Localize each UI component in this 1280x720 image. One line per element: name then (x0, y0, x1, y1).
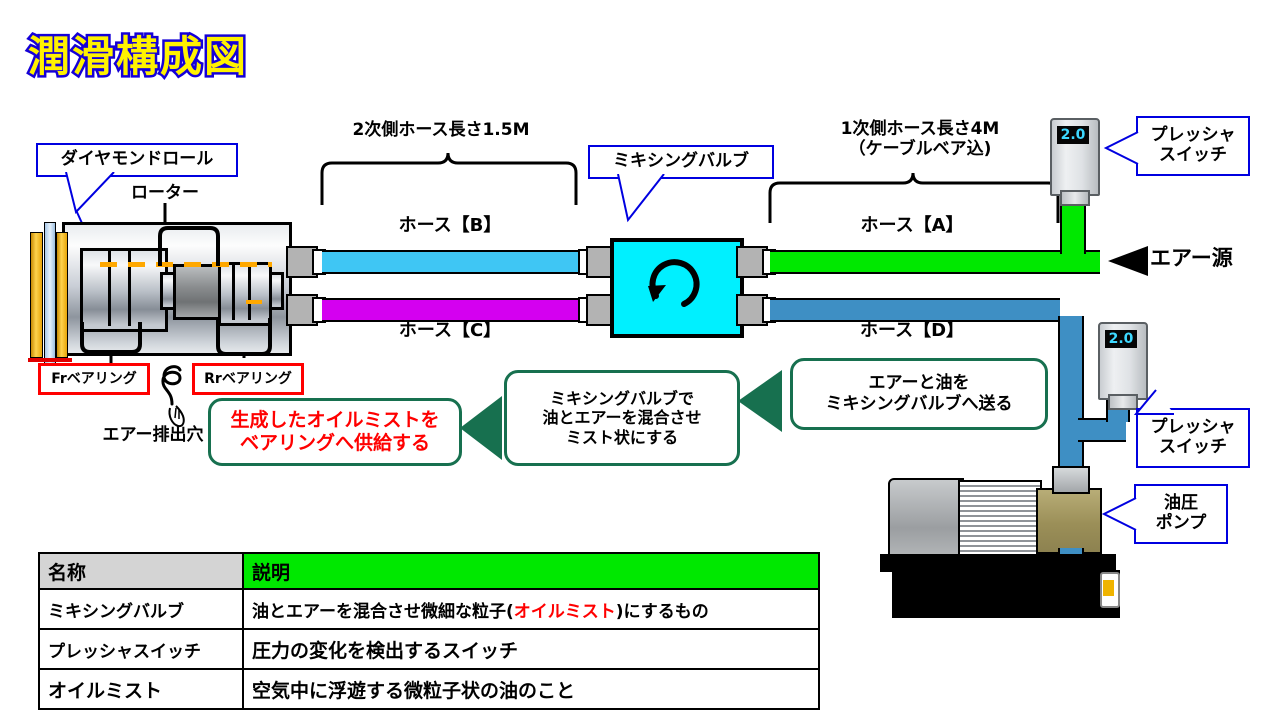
callout-supply-to-bearing-line2: ベアリングへ供給する (240, 432, 430, 455)
pressure-switch-bottom-display: 2.0 (1105, 330, 1137, 348)
machine-flange-left (80, 248, 168, 332)
table-row: オイルミスト 空気中に浮遊する微粒子状の油のこと (39, 669, 819, 709)
table-cell-desc: 油とエアーを混合させ微細な粒子(オイルミスト)にするもの (243, 589, 819, 629)
label-pressure-switch-bottom-line2: スイッチ (1159, 438, 1227, 458)
label-mixing-valve-text: ミキシングバルブ (613, 152, 749, 172)
legend-table: 名称 説明 ミキシングバルブ 油とエアーを混合させ微細な粒子(オイルミスト)にす… (38, 552, 820, 710)
table-header-row: 名称 説明 (39, 553, 819, 589)
label-diamond-roll-text: ダイヤモンドロール (61, 150, 214, 170)
table-row: ミキシングバルブ 油とエアーを混合させ微細な粒子(オイルミスト)にするもの (39, 589, 819, 629)
hose-d-downcomer (1058, 316, 1084, 468)
label-fr-bearing-text: Frベアリング (51, 372, 137, 386)
label-air-exhaust-hole: エアー排出穴 (78, 425, 228, 445)
callout-mix-into-mist: ミキシングバルブで 油とエアーを混合させ ミスト状にする (504, 370, 740, 466)
machine-flange-rib-1 (108, 248, 111, 326)
table-cell-name: プレッシャスイッチ (39, 629, 243, 669)
callout-mix-into-mist-line3: ミスト状にする (566, 428, 678, 448)
tank-sight-gauge-level (1103, 580, 1114, 596)
hose-c (322, 298, 580, 322)
table-cell-desc: 圧力の変化を検出するスイッチ (243, 629, 819, 669)
label-hose-a: ホース【A】 (800, 215, 1024, 237)
brace-secondary-hose (320, 145, 578, 207)
table-header-desc: 説明 (243, 553, 819, 589)
label-hydraulic-pump-line2: ポンプ (1156, 514, 1207, 534)
label-hose-b: ホース【B】 (338, 215, 562, 237)
label-rotor: ローター (110, 183, 220, 203)
label-air-source: エアー源 (1150, 246, 1270, 271)
label-pressure-switch-top-line2: スイッチ (1159, 146, 1227, 166)
desc-paren-open: ( (506, 602, 514, 622)
diamond-roll-disc-outer (30, 232, 43, 358)
machine-rear-bracket (216, 318, 272, 358)
mixing-arrow-icon (640, 252, 708, 316)
machine-flange-right (218, 262, 272, 326)
leader-mixing-valve (588, 174, 770, 236)
machine-front-bracket (80, 322, 144, 366)
leader-pressure-switch-bottom (1130, 388, 1176, 418)
label-pressure-switch-bottom-line1: プレッシャ (1151, 418, 1236, 438)
air-source-arrow-icon (1104, 244, 1150, 278)
hose-d (770, 298, 1060, 322)
callout-send-air-and-oil-line2: ミキシングバルブへ送る (826, 394, 1013, 415)
hose-a (770, 250, 1100, 274)
table-row: プレッシャスイッチ 圧力の変化を検出するスイッチ (39, 629, 819, 669)
machine-flange-right-rib-1 (232, 262, 235, 320)
label-hose-c: ホース【C】 (338, 320, 562, 342)
pump-inlet-collar (1052, 466, 1090, 494)
callout-mix-into-mist-line1: ミキシングバルブで (550, 389, 694, 409)
leader-pressure-switch-top (1100, 126, 1140, 172)
label-hydraulic-pump: 油圧 ポンプ (1134, 484, 1228, 544)
label-hose-d: ホース【D】 (800, 320, 1024, 342)
machine-rotor-bracket (158, 224, 220, 266)
callout-send-air-and-oil-line1: エアーと油を (869, 373, 970, 394)
label-primary-hose-length-2: （ケーブルベア込) (790, 139, 1050, 159)
desc-post: にするもの (624, 602, 709, 622)
callout-supply-to-bearing: 生成したオイルミストを ベアリングへ供給する (208, 398, 462, 466)
label-pressure-switch-top: プレッシャ スイッチ (1136, 116, 1250, 176)
label-pressure-switch-top-line1: プレッシャ (1151, 126, 1236, 146)
pump-head (1036, 488, 1102, 554)
callout-arrow-middle (736, 366, 784, 436)
desc-paren-close: ) (616, 602, 624, 622)
pump-motor-cap (888, 478, 964, 562)
label-rr-bearing-text: Rrベアリング (204, 372, 292, 386)
callout-supply-to-bearing-line1: 生成したオイルミストを (230, 409, 439, 432)
label-primary-hose-length-1: 1次側ホース長さ4M (790, 119, 1050, 139)
pump-cooling-fins (958, 480, 1042, 560)
diamond-roll-base-line (28, 358, 72, 362)
diamond-roll-disc-mid (44, 222, 56, 364)
air-exhaust-icon (150, 346, 210, 432)
machine-flange-rib-2 (128, 248, 131, 326)
desc-highlight: オイルミスト (514, 602, 616, 622)
callout-send-air-and-oil: エアーと油を ミキシングバルブへ送る (790, 358, 1048, 430)
callout-mix-into-mist-line2: 油とエアーを混合させ (542, 408, 701, 428)
page-title: 潤滑構成図 (28, 36, 248, 78)
oil-tank (892, 570, 1120, 618)
table-cell-desc: 空気中に浮遊する微粒子状の油のこと (243, 669, 819, 709)
pressure-switch-top-neck (1060, 190, 1090, 206)
label-secondary-hose-length: 2次側ホース長さ1.5M (305, 120, 577, 140)
machine-flange-right-rib-2 (248, 262, 251, 320)
machine-centerline-stub (246, 300, 262, 304)
label-fr-bearing: Frベアリング (38, 363, 150, 395)
table-cell-name: ミキシングバルブ (39, 589, 243, 629)
table-header-name: 名称 (39, 553, 243, 589)
pressure-switch-top-display: 2.0 (1057, 126, 1089, 144)
label-hydraulic-pump-line1: 油圧 (1164, 494, 1198, 514)
leader-hydraulic-pump (1098, 494, 1138, 534)
desc-pre: 油とエアーを混合させ微細な粒子 (252, 602, 506, 622)
callout-arrow-left (458, 392, 504, 464)
diamond-roll-disc-inner (56, 232, 68, 358)
hose-b (322, 250, 580, 274)
table-cell-name: オイルミスト (39, 669, 243, 709)
